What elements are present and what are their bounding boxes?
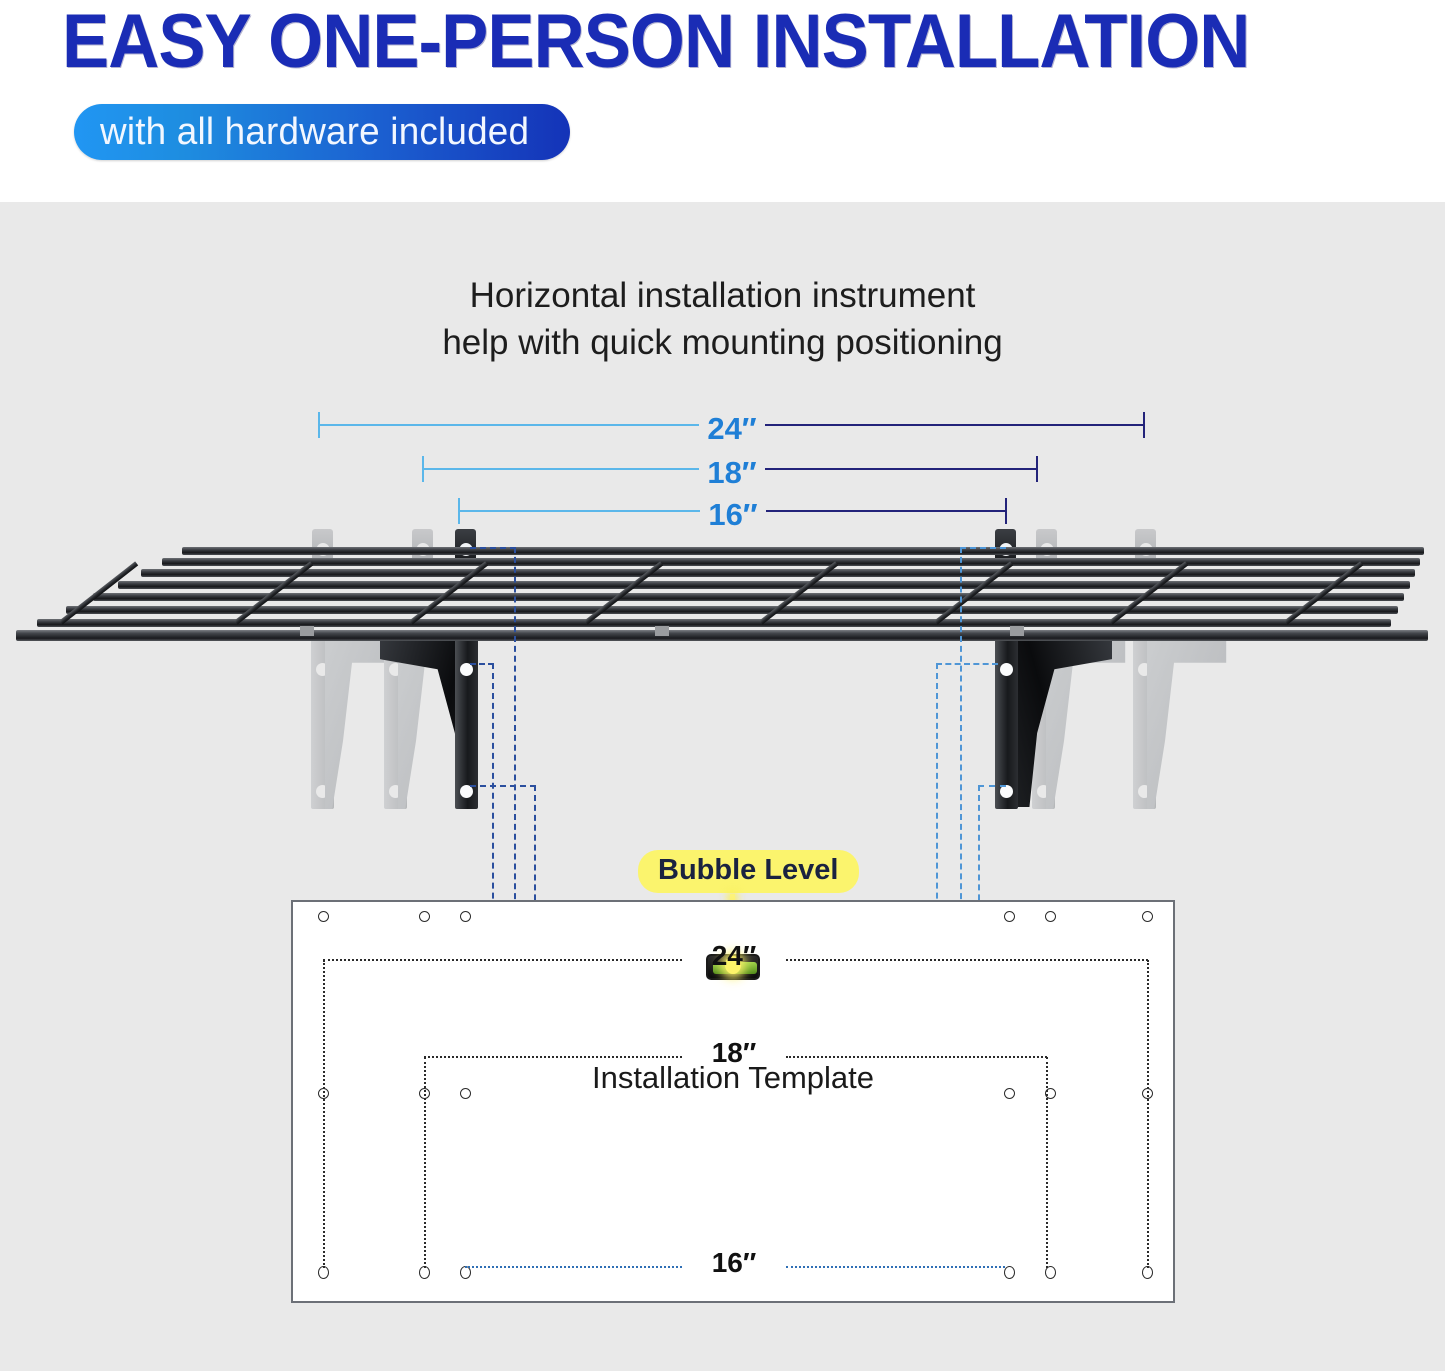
template-hole (1004, 911, 1015, 922)
shelf-front-rail (16, 630, 1428, 641)
template-hole (419, 911, 430, 922)
bracket-arm (1016, 639, 1112, 807)
shelf-slat (93, 593, 1404, 601)
template-dim-leg (323, 960, 325, 1268)
shelf-slat (141, 569, 1415, 577)
template-dim-leg (1147, 960, 1149, 1268)
hardware-included-badge: with all hardware included (74, 104, 570, 160)
template-hole (318, 911, 329, 922)
bracket-active (995, 639, 1115, 809)
template-eyelet (1004, 1266, 1015, 1279)
connector-vertical (960, 547, 962, 909)
shelf-foot (300, 626, 314, 636)
bracket-ghost (1133, 639, 1253, 809)
template-hole (1045, 911, 1056, 922)
template-dim-label-18: 18″ (682, 1037, 786, 1069)
template-dim-line (323, 959, 682, 961)
connector-horizontal (470, 547, 516, 549)
template-dim-line (786, 1056, 1047, 1058)
shelf-slat (66, 606, 1398, 614)
template-dim-line (786, 1266, 1005, 1268)
content-area: Horizontal installation instrument help … (0, 202, 1445, 1371)
bracket-arm (1147, 639, 1237, 809)
template-dim-label-16: 16″ (682, 1247, 786, 1279)
shelf-foot (655, 626, 669, 636)
template-hole (1142, 911, 1153, 922)
bubble-level-callout: Bubble Level (638, 850, 859, 893)
template-dim-leg (1046, 1057, 1048, 1268)
template-hole (1004, 1088, 1015, 1099)
template-dim-line (465, 1266, 682, 1268)
connector-horizontal (470, 785, 536, 787)
hardware-included-label: with all hardware included (100, 111, 529, 154)
installation-template-sheet: Installation Template (291, 900, 1175, 1303)
template-hole (460, 911, 471, 922)
template-dim-label-24: 24″ (682, 940, 786, 972)
bracket-hole (1000, 663, 1013, 676)
template-hole (460, 1088, 471, 1099)
shelf-slat (162, 558, 1420, 566)
connector-horizontal (470, 663, 494, 665)
connector-horizontal (960, 547, 1006, 549)
shelf-slat (182, 547, 1424, 555)
shelf-foot (1010, 626, 1024, 636)
template-dim-line (424, 1056, 682, 1058)
page-title: EASY ONE-PERSON INSTALLATION (62, 0, 1249, 85)
connector-vertical (514, 547, 516, 909)
connector-horizontal (936, 663, 998, 665)
infographic-page: EASY ONE-PERSON INSTALLATION with all ha… (0, 0, 1445, 1371)
header-band: EASY ONE-PERSON INSTALLATION with all ha… (0, 0, 1445, 202)
shelf-slat (118, 581, 1410, 589)
template-dim-leg (424, 1057, 426, 1268)
template-dim-line (786, 959, 1148, 961)
connector-horizontal (978, 785, 1006, 787)
